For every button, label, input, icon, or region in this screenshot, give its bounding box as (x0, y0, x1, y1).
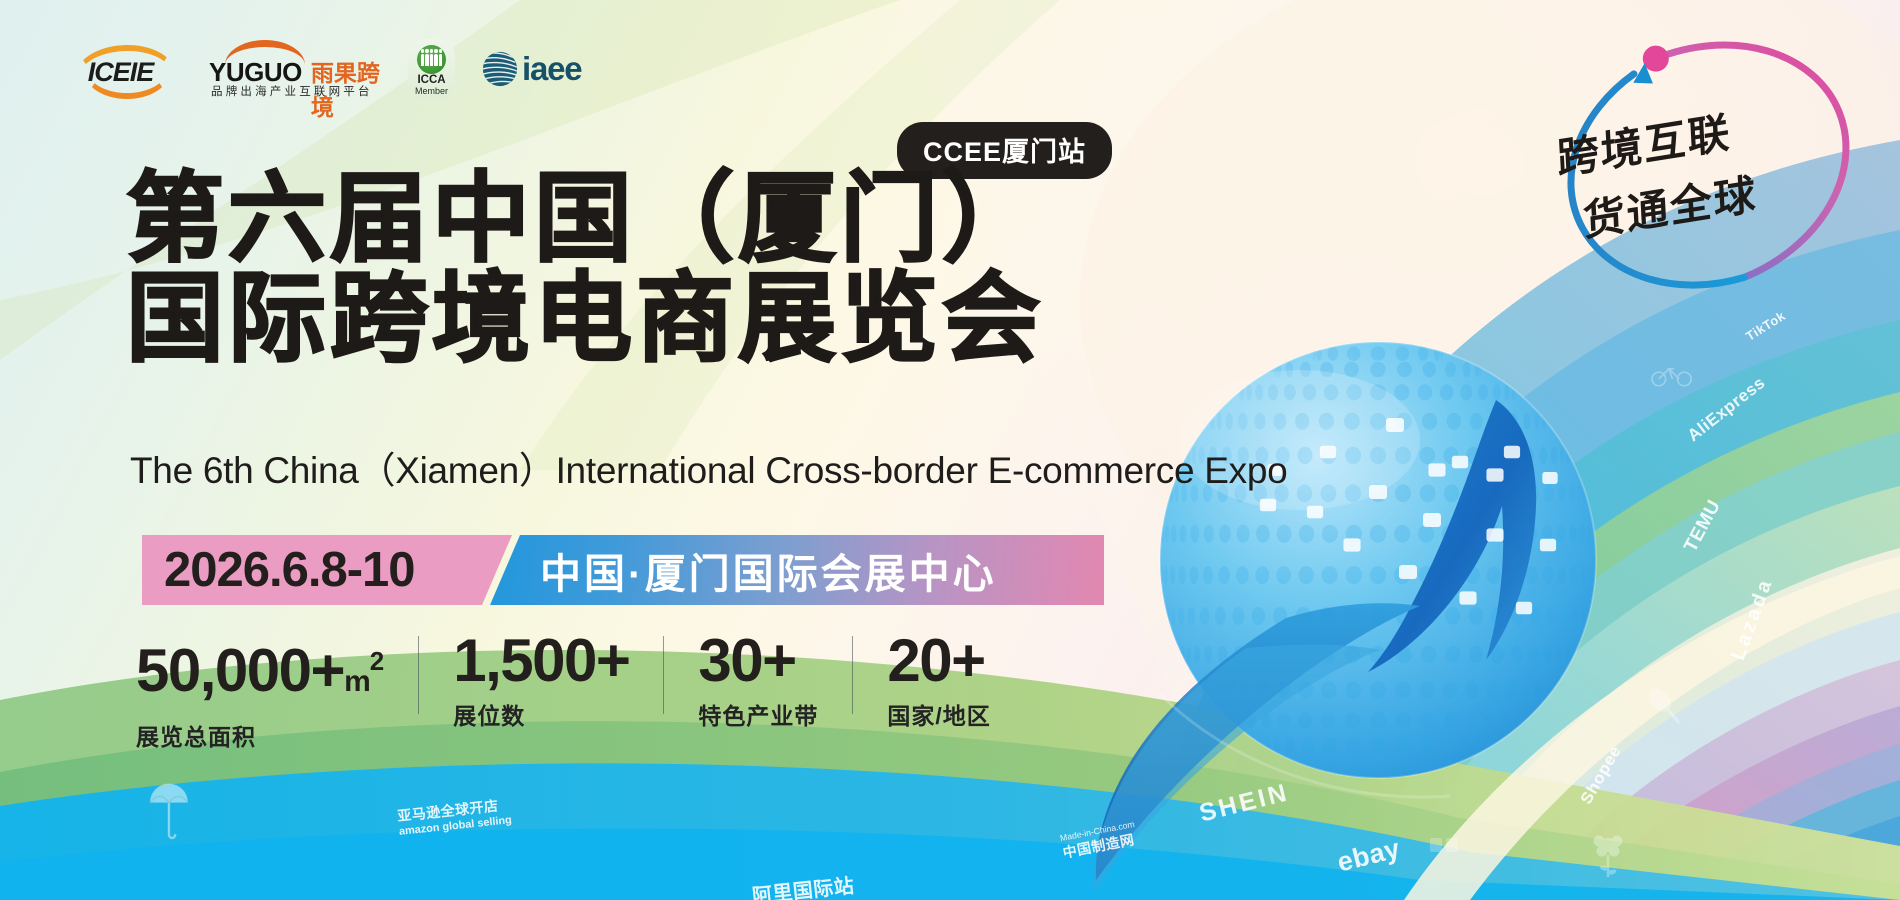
icca-member-label: Member (408, 86, 455, 96)
gamepad-icon (1486, 468, 1503, 481)
stat-item-area: 50,000+m2 展览总面积 (136, 630, 384, 752)
brand-logo-shein: SHEIN (1196, 778, 1292, 828)
stat-value-countries: 20+ (887, 630, 990, 692)
iaee-logo-text: iaee (522, 50, 581, 88)
brand-logo-lazada-label: Lazada (1727, 575, 1778, 664)
shoe-icon (1307, 506, 1323, 519)
globe-product-icons (1260, 418, 1558, 614)
suitcase-icon (1260, 499, 1276, 512)
iaee-globe-icon (481, 50, 519, 88)
stat-divider-2 (663, 636, 664, 714)
brand-logo-ebay-label: ebay (1334, 833, 1403, 878)
title-line-2: 国际跨境电商展览会 (126, 268, 1044, 368)
event-venue-block: 中国·厦门国际会展中心 (490, 535, 1104, 605)
brand-logo-temu-label: TEMU (1680, 497, 1726, 557)
stat-label-booths: 展位数 (453, 697, 629, 731)
brand-logo-alibaba-label: 阿里国际站 (750, 869, 855, 900)
brand-logo-shopee-label: Shopee (1576, 742, 1626, 808)
brand-logo-made-in-china: Made-in-China.com中国制造网 (1059, 819, 1139, 863)
handbag-icon (1428, 463, 1445, 476)
slogan-block: 跨境互联 货通全球 (1512, 60, 1892, 290)
event-date-text: 2026.6.8-10 (164, 542, 415, 598)
brand-logo-lazada: Lazada (1727, 575, 1778, 664)
sofa-icon (1399, 565, 1417, 579)
badminton2-icon (1516, 602, 1532, 615)
dumbbell-icon (1542, 472, 1557, 484)
stat-label-clusters: 特色产业带 (698, 697, 818, 731)
icca-people-icon (417, 45, 446, 74)
brand-logo-ebay: ebay (1334, 833, 1403, 878)
brand-logo-temu: TEMU (1680, 497, 1726, 557)
hat-icon (1452, 456, 1468, 469)
event-title-english: The 6th China（Xiamen）International Cross… (130, 440, 1287, 494)
globe-illustration (1159, 342, 1597, 778)
tools-icon (1320, 446, 1336, 459)
stat-unit-area: m (344, 665, 370, 698)
tshirt-icon (1369, 485, 1387, 499)
stat-label-countries: 国家/地区 (887, 697, 990, 731)
brand-logo-shopee: Shopee (1576, 742, 1626, 808)
poster-banner: ICEIE YUGUO 雨果跨境 品牌出海产业互联网平台 ICCA Member (0, 0, 1900, 900)
bathtub-icon (1459, 591, 1476, 604)
stat-value-booths: 1,500+ (453, 630, 629, 692)
stat-item-booths: 1,500+ 展位数 (453, 630, 629, 731)
stat-item-countries: 20+ 国家/地区 (887, 630, 990, 731)
watch-icon (1343, 538, 1360, 551)
event-date-block: 2026.6.8-10 (142, 535, 512, 605)
books-icon (1540, 539, 1556, 552)
stat-divider-1 (418, 636, 419, 714)
stat-unit-sup-area: 2 (370, 646, 384, 676)
stat-value-area: 50,000+m2 (136, 630, 384, 713)
lamp-icon (1504, 446, 1520, 459)
brand-logo-aliexpress-label: AliExpress (1684, 373, 1770, 446)
sponsor-logo-bar: ICEIE YUGUO 雨果跨境 品牌出海产业互联网平台 ICCA Member (68, 38, 611, 100)
sunglasses-icon (1386, 418, 1404, 432)
yuguo-logo: YUGUO 雨果跨境 品牌出海产业互联网平台 (209, 38, 384, 100)
brand-logo-tiktok-label: TikTok (1743, 308, 1788, 344)
headphones-icon (1423, 513, 1441, 527)
stat-item-clusters: 30+ 特色产业带 (698, 630, 818, 731)
iceie-logo: ICEIE (68, 41, 173, 97)
yuguo-tagline: 品牌出海产业互联网平台 (211, 83, 373, 99)
camera-icon (1486, 528, 1503, 541)
date-venue-bar: 2026.6.8-10 中国·厦门国际会展中心 (142, 535, 1104, 605)
brand-logo-tiktok: TikTok (1743, 308, 1788, 344)
iaee-logo: iaee (481, 45, 611, 93)
stat-value-clusters: 30+ (698, 630, 818, 692)
brand-logo-shein-label: SHEIN (1196, 778, 1292, 828)
icca-label: ICCA (408, 74, 455, 86)
stat-divider-3 (852, 636, 853, 714)
stats-row: 50,000+m2 展览总面积 1,500+ 展位数 30+ 特色产业带 20+… (136, 630, 991, 752)
icca-member-logo: ICCA Member (408, 39, 455, 99)
brand-logo-alibaba: 阿里国际站 (750, 869, 855, 900)
brand-logo-amazon-global-selling: 亚马逊全球开店amazon global selling (396, 794, 512, 838)
title-line-1: 第六届中国（厦门） (126, 168, 1044, 268)
event-venue-text: 中国·厦门国际会展中心 (540, 540, 997, 600)
event-title: 第六届中国（厦门） 国际跨境电商展览会 (126, 168, 1044, 368)
stat-label-area: 展览总面积 (136, 718, 384, 752)
brand-logo-aliexpress: AliExpress (1684, 373, 1770, 446)
iceie-arc-bottom-icon (84, 71, 170, 99)
